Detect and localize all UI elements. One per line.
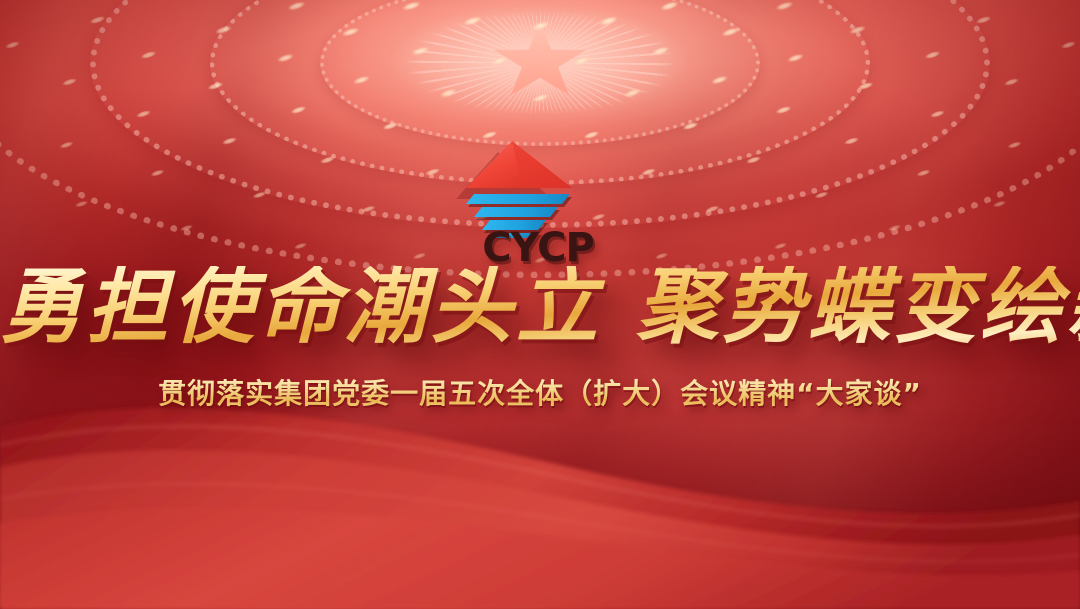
banner-subtitle: 贯彻落实集团党委一届五次全体（扩大）会议精神“大家谈”: [0, 372, 1080, 412]
subtitle-text: 贯彻落实集团党委一届五次全体（扩大）会议精神“大家谈”: [158, 372, 922, 412]
banner-title: 勇担使命潮头立聚势蝶变绘新篇: [0, 266, 1080, 348]
title-text: 勇担使命潮头立聚势蝶变绘新篇: [0, 266, 1080, 348]
title-right: 聚势蝶变绘新篇: [636, 259, 1080, 355]
cycp-logo: CYCP: [444, 138, 624, 263]
chevron-arrow-icon: [444, 138, 624, 238]
banner-canvas: CYCP 勇担使命潮头立聚势蝶变绘新篇 贯彻落实集团党委一届五次全体（扩大）会议…: [0, 0, 1080, 609]
title-left: 勇担使命潮头立: [0, 259, 602, 355]
